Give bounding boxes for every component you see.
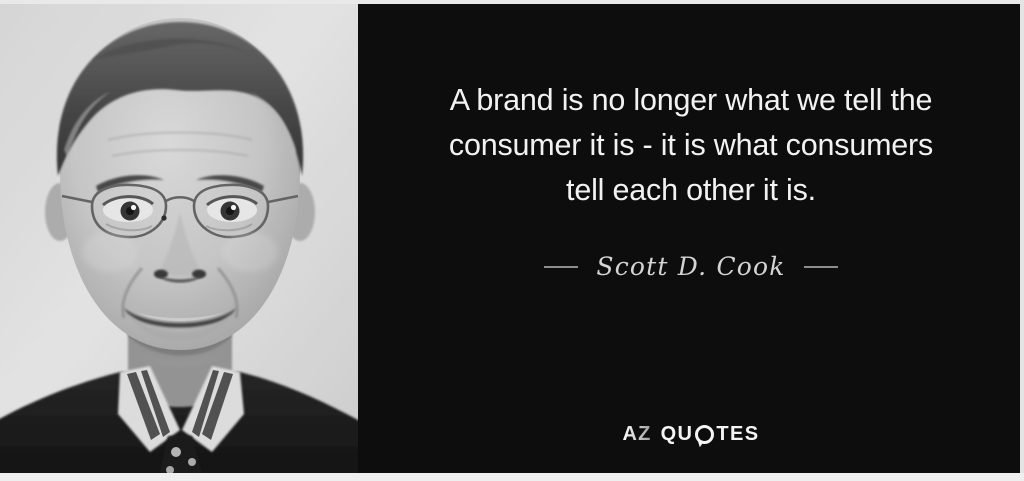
quote-text: A brand is no longer what we tell the co… bbox=[382, 78, 1000, 213]
attribution-dash-right bbox=[804, 266, 838, 268]
attribution-author-name: Scott D. Cook bbox=[596, 252, 785, 281]
quote-card: A brand is no longer what we tell the co… bbox=[0, 0, 1024, 481]
logo-text-az: AZ bbox=[623, 423, 652, 446]
border-bottom bbox=[0, 473, 1024, 481]
quote-panel: A brand is no longer what we tell the co… bbox=[358, 0, 1024, 481]
portrait-photo bbox=[0, 0, 358, 481]
border-top bbox=[0, 0, 1024, 4]
logo-text-tes: TES bbox=[716, 423, 759, 446]
speech-bubble-o-icon bbox=[695, 425, 714, 444]
portrait-illustration bbox=[0, 0, 358, 481]
logo-text-qu: QU bbox=[661, 423, 694, 446]
border-right bbox=[1020, 0, 1024, 481]
attribution: Scott D. Cook bbox=[382, 252, 1000, 281]
az-quotes-logo[interactable]: AZ QU TES bbox=[358, 423, 1024, 446]
attribution-dash-left bbox=[544, 266, 578, 268]
